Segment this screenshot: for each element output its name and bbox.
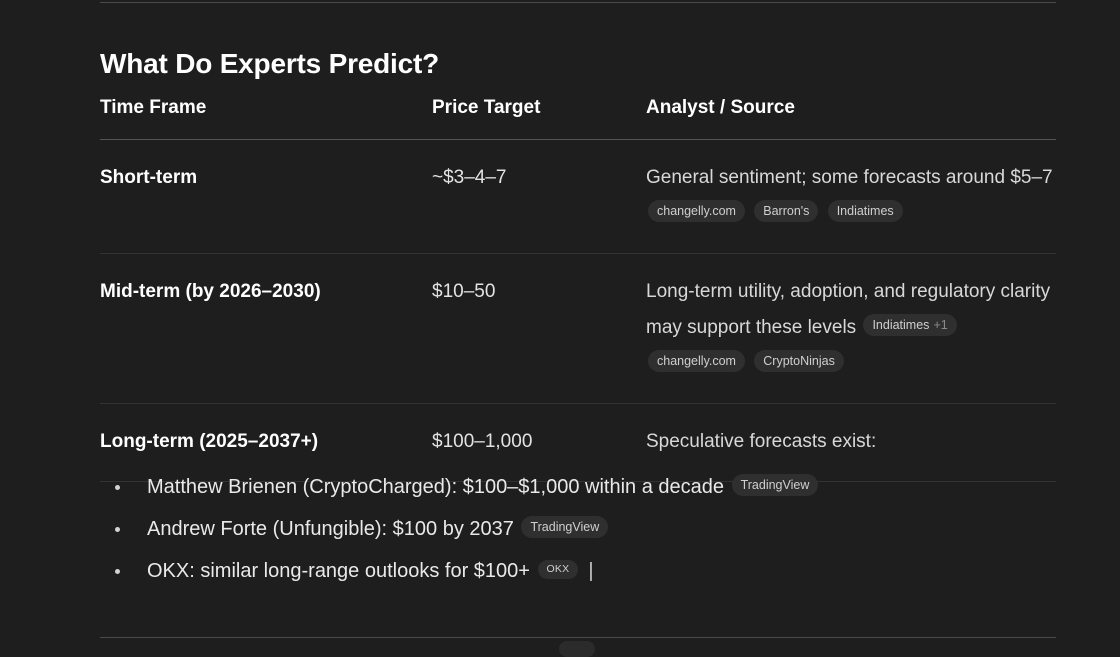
column-header-price-target: Price Target bbox=[432, 96, 646, 140]
trailing-separator: | bbox=[588, 560, 593, 582]
speculative-forecast-list: Matthew Brienen (CryptoCharged): $100–$1… bbox=[100, 466, 1056, 592]
list-item: Matthew Brienen (CryptoCharged): $100–$1… bbox=[100, 466, 1056, 508]
source-chip-label: changelly.com bbox=[657, 354, 736, 368]
table-header: Time Frame Price Target Analyst / Source bbox=[100, 96, 1056, 140]
list-item: Andrew Forte (Unfungible): $100 by 2037 … bbox=[100, 508, 1056, 550]
source-chip[interactable]: TradingView bbox=[521, 516, 608, 538]
source-chip[interactable]: Barron's bbox=[754, 200, 818, 222]
table-header-row: Time Frame Price Target Analyst / Source bbox=[100, 96, 1056, 140]
cell-time-frame: Short-term bbox=[100, 140, 432, 254]
section-divider-top bbox=[100, 2, 1056, 3]
source-chip[interactable]: changelly.com bbox=[648, 350, 745, 372]
scroll-affordance-nub[interactable] bbox=[559, 641, 595, 657]
forecast-text: OKX: similar long-range outlooks for $10… bbox=[147, 560, 530, 582]
source-chip-label: changelly.com bbox=[657, 204, 736, 218]
source-chip-label: Indiatimes bbox=[837, 204, 894, 218]
source-chip[interactable]: changelly.com bbox=[648, 200, 745, 222]
table-row: Mid-term (by 2026–2030)$10–50Long-term u… bbox=[100, 254, 1056, 404]
bullet-icon bbox=[115, 485, 120, 490]
page-title: What Do Experts Predict? bbox=[100, 46, 439, 82]
cell-time-frame: Mid-term (by 2026–2030) bbox=[100, 254, 432, 404]
table-body: Short-term~$3–4–7General sentiment; some… bbox=[100, 140, 1056, 482]
column-header-analyst-source: Analyst / Source bbox=[646, 96, 1056, 140]
cell-analyst-source: General sentiment; some forecasts around… bbox=[646, 140, 1056, 254]
list-item: OKX: similar long-range outlooks for $10… bbox=[100, 550, 1056, 592]
source-description: Speculative forecasts exist: bbox=[646, 431, 876, 452]
table-row: Short-term~$3–4–7General sentiment; some… bbox=[100, 140, 1056, 254]
section-divider-bottom bbox=[100, 637, 1056, 638]
cell-price-target: ~$3–4–7 bbox=[432, 140, 646, 254]
source-chip-label: CryptoNinjas bbox=[763, 354, 835, 368]
source-description: Long-term utility, adoption, and regulat… bbox=[646, 281, 1050, 338]
source-chip-label: Indiatimes bbox=[872, 318, 929, 332]
article-section: What Do Experts Predict? Time Frame Pric… bbox=[0, 0, 1120, 647]
source-description: General sentiment; some forecasts around… bbox=[646, 167, 1053, 188]
cell-analyst-source: Long-term utility, adoption, and regulat… bbox=[646, 254, 1056, 404]
source-chip[interactable]: TradingView bbox=[732, 474, 819, 496]
source-chip-count: +1 bbox=[933, 318, 947, 332]
column-header-time-frame: Time Frame bbox=[100, 96, 432, 140]
source-chip-label: Barron's bbox=[763, 204, 809, 218]
source-chip[interactable]: Indiatimes+1 bbox=[863, 314, 956, 336]
bullet-icon bbox=[115, 527, 120, 532]
source-chip[interactable]: CryptoNinjas bbox=[754, 350, 844, 372]
forecast-text: Matthew Brienen (CryptoCharged): $100–$1… bbox=[147, 476, 724, 498]
source-chip[interactable]: Indiatimes bbox=[828, 200, 903, 222]
bullet-icon bbox=[115, 569, 120, 574]
cell-price-target: $10–50 bbox=[432, 254, 646, 404]
expert-predictions-table: Time Frame Price Target Analyst / Source… bbox=[100, 96, 1056, 482]
source-chip[interactable]: OKX bbox=[538, 560, 579, 579]
forecast-text: Andrew Forte (Unfungible): $100 by 2037 bbox=[147, 518, 514, 540]
